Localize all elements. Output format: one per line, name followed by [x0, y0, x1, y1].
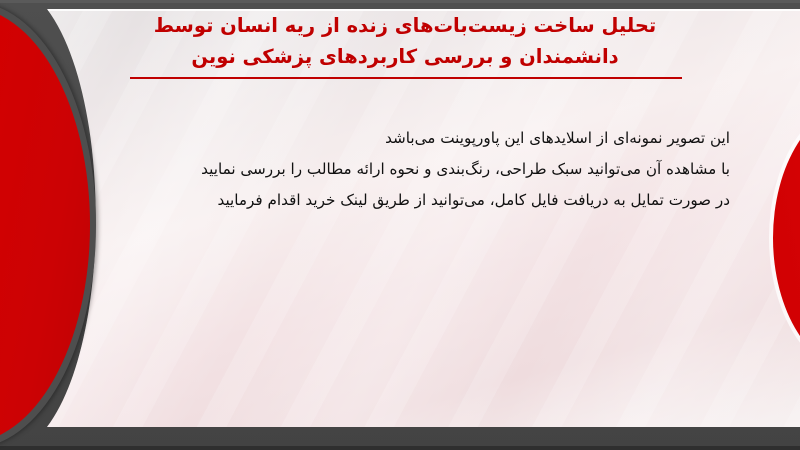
slide-frame-top-edge [0, 0, 800, 3]
slide-body-text: این تصویر نمونه‌ای از اسلایدهای این پاور… [90, 123, 730, 216]
panel-diagonal-sheen [0, 9, 800, 429]
slide-body-line-1: این تصویر نمونه‌ای از اسلایدهای این پاور… [90, 123, 730, 154]
slide-title: تحلیل ساخت زیست‌بات‌های زنده از ریه انسا… [60, 10, 750, 72]
slide-title-line-1: تحلیل ساخت زیست‌بات‌های زنده از ریه انسا… [60, 10, 750, 41]
slide-title-line-2: دانشمندان و بررسی کاربردهای پزشکی نوین [60, 41, 750, 72]
title-underline-rule [130, 77, 682, 79]
slide-content-panel [0, 9, 800, 429]
slide-body-line-3: در صورت تمایل به دریافت فایل کامل، می‌تو… [90, 185, 730, 216]
presentation-slide: تحلیل ساخت زیست‌بات‌های زنده از ریه انسا… [0, 0, 800, 450]
slide-body-line-2: با مشاهده آن می‌توانید سبک طراحی، رنگ‌بن… [90, 154, 730, 185]
slide-frame-bottom-edge [0, 446, 800, 450]
